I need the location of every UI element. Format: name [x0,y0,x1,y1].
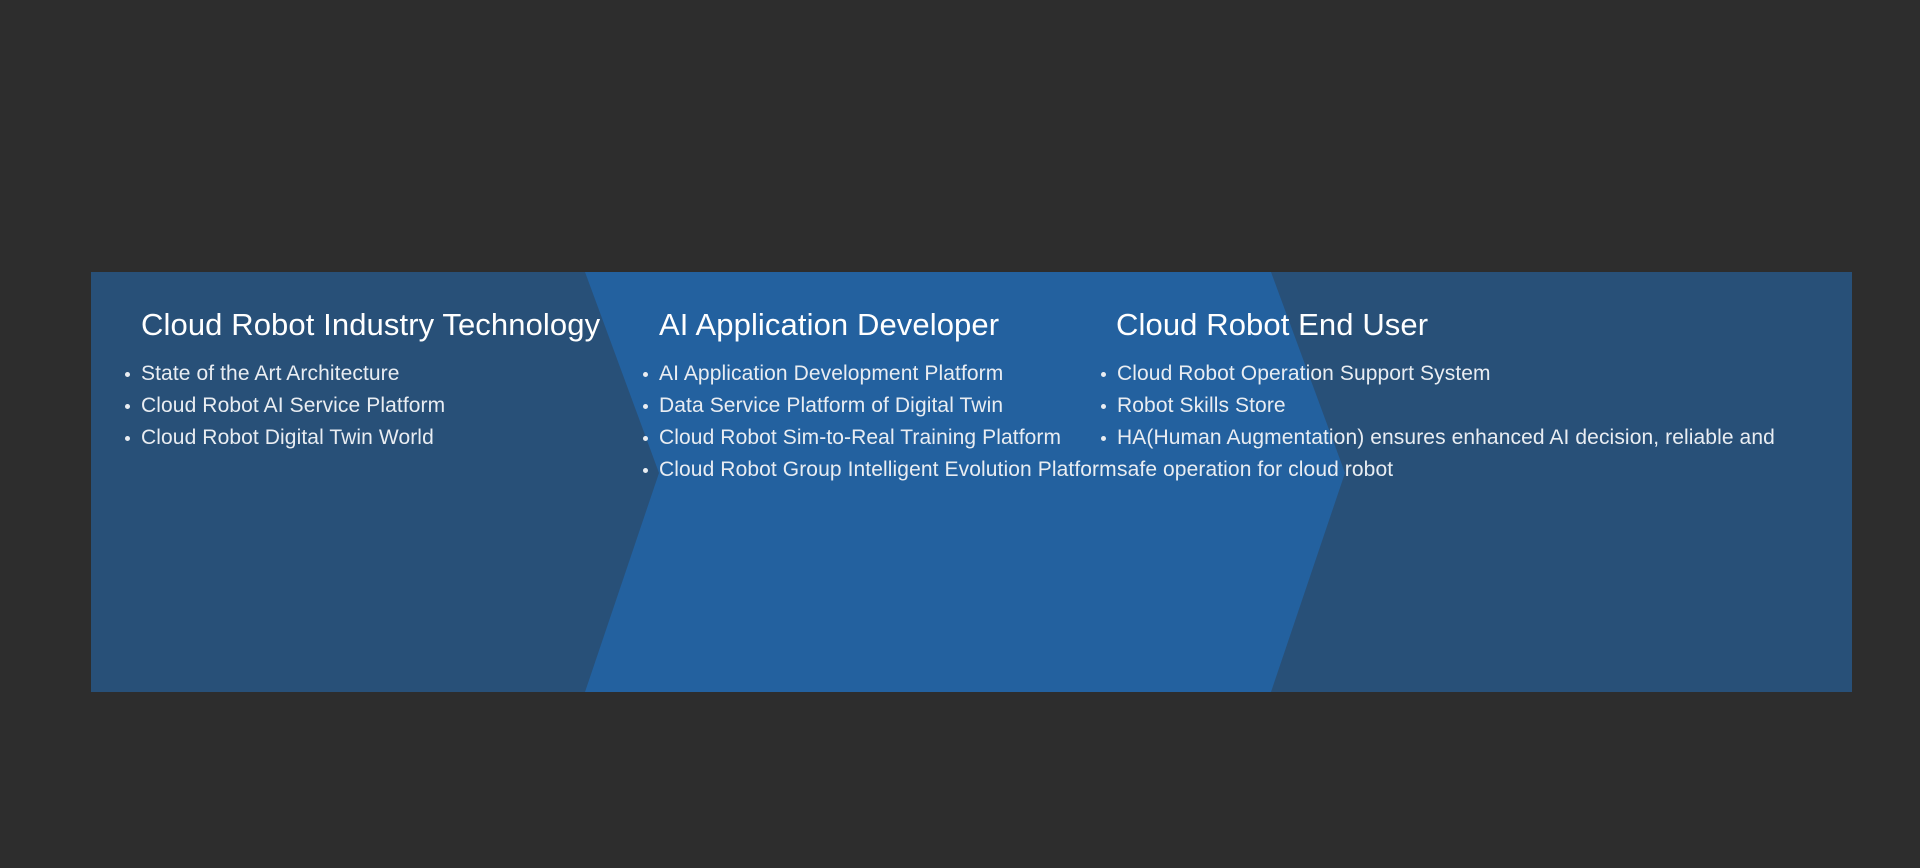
panel-cloud-robot-end-user[interactable]: Cloud Robot End User Cloud Robot Operati… [1091,272,1852,692]
panel-3-title: Cloud Robot End User [1116,308,1428,342]
slide-canvas: Cloud Robot Industry Technology State of… [0,0,1920,868]
list-item: Cloud Robot Operation Support System [1099,358,1819,390]
panel-2-title: AI Application Developer [659,308,999,342]
list-item: HA(Human Augmentation) ensures enhanced … [1099,422,1819,486]
chevron-banner: Cloud Robot Industry Technology State of… [91,272,1852,692]
list-item: Robot Skills Store [1099,390,1819,422]
panel-1-title: Cloud Robot Industry Technology [141,308,600,342]
panel-3-bullet-list: Cloud Robot Operation Support System Rob… [1099,358,1819,486]
